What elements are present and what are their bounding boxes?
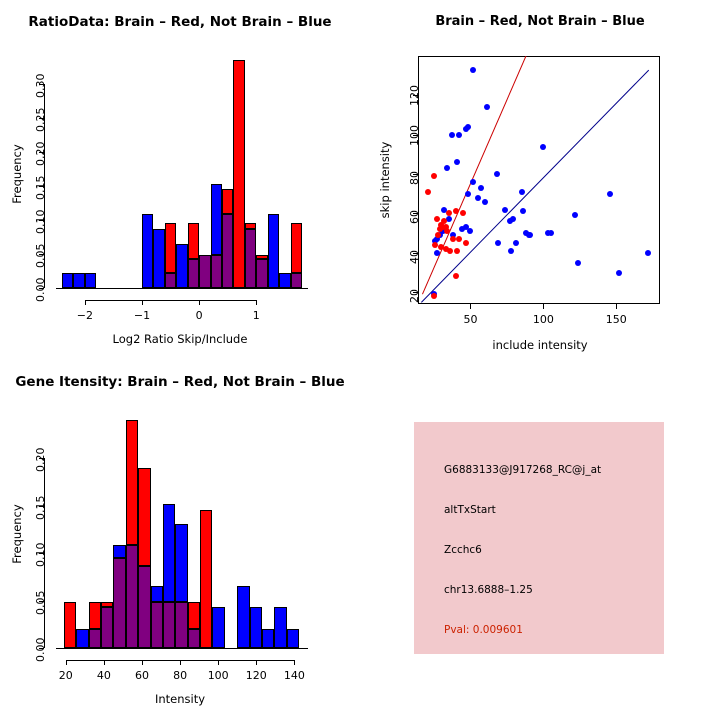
y-axis-tick-label: 0.20	[34, 448, 47, 473]
histogram-bar-overlap	[89, 629, 101, 648]
histogram-bar-overlap	[222, 214, 233, 288]
x-axis-tick	[470, 304, 471, 309]
x-axis-tick	[142, 300, 143, 305]
scatter-point-not-brain	[470, 179, 476, 185]
x-axis-line	[85, 300, 256, 301]
histogram-bar-overlap	[151, 602, 163, 648]
scatter-point-brain	[456, 236, 462, 242]
y-axis-title: skip intensity	[378, 56, 392, 304]
x-axis-tick-label: 100	[527, 313, 559, 326]
scatter-point-not-brain	[507, 218, 513, 224]
x-axis-tick	[294, 660, 295, 665]
scatter-point-brain	[453, 273, 459, 279]
scatter-point-not-brain	[449, 132, 455, 138]
scatter-point-not-brain	[572, 212, 578, 218]
y-axis-tick-label: 0.05	[34, 243, 47, 268]
scatter-point-not-brain	[540, 144, 546, 150]
x-axis-tick	[256, 300, 257, 305]
histogram-bar	[153, 229, 164, 288]
scatter-point-not-brain	[465, 191, 471, 197]
scatter-title: Brain – Red, Not Brain – Blue	[360, 14, 720, 29]
histogram-bar	[188, 223, 199, 258]
scatter-point-not-brain	[475, 195, 481, 201]
x-axis-tick	[218, 660, 219, 665]
x-axis-tick	[104, 660, 105, 665]
histogram-bar	[64, 602, 76, 648]
y-axis-tick-label: 40	[408, 250, 421, 264]
gene-symbol-label: Zcchc6	[444, 544, 482, 556]
histogram-bar-overlap	[188, 629, 200, 648]
x-axis-tick	[142, 660, 143, 665]
histogram-bar	[188, 602, 200, 629]
scatter-point-not-brain	[482, 199, 488, 205]
x-axis-title: Intensity	[0, 692, 360, 706]
histogram-bar-overlap	[138, 566, 150, 648]
histogram-bar	[287, 629, 299, 648]
scatter-point-not-brain	[456, 132, 462, 138]
x-axis-tick-label: 60	[128, 669, 156, 682]
scatter-point-not-brain	[494, 171, 500, 177]
histogram-baseline	[56, 648, 308, 649]
ratio-histogram-title: RatioData: Brain – Red, Not Brain – Blue	[0, 14, 360, 30]
histogram-bar-overlap	[163, 602, 175, 648]
histogram-bar	[291, 223, 302, 273]
y-axis-tick-label: 0.00	[34, 278, 47, 303]
histogram-bar-overlap	[126, 545, 138, 648]
x-axis-tick-label: 100	[204, 669, 232, 682]
y-axis-tick-label: 0.25	[34, 107, 47, 132]
scatter-point-brain	[460, 210, 466, 216]
y-axis-tick-label: 20	[408, 289, 421, 303]
histogram-bar	[237, 586, 249, 648]
x-axis-tick-label: −2	[71, 309, 99, 322]
histogram-bar	[62, 273, 73, 288]
scatter-point-not-brain	[454, 159, 460, 165]
histogram-bar-overlap	[101, 607, 113, 648]
scatter-point-not-brain	[519, 189, 525, 195]
figure-canvas: RatioData: Brain – Red, Not Brain – Blue…	[0, 0, 720, 720]
panel-intensity-histogram: Gene Itensity: Brain – Red, Not Brain – …	[0, 360, 360, 720]
gene-info-box: G6883133@J917268_RC@j_at altTxStart Zcch…	[414, 422, 664, 654]
x-axis-title: Log2 Ratio Skip/Include	[0, 332, 360, 346]
y-axis-title: Frequency	[10, 60, 24, 288]
histogram-bar	[233, 60, 244, 288]
histogram-bar	[142, 214, 153, 288]
x-axis-tick	[199, 300, 200, 305]
histogram-bar-overlap	[113, 558, 125, 648]
histogram-bar	[211, 184, 222, 255]
scatter-point-not-brain	[495, 240, 501, 246]
histogram-bar	[73, 273, 84, 288]
x-axis-tick-label: 0	[185, 309, 213, 322]
y-axis-tick-label: 0.05	[34, 590, 47, 615]
scatter-point-not-brain	[467, 228, 473, 234]
histogram-bar	[268, 214, 279, 288]
scatter-point-not-brain	[575, 260, 581, 266]
x-axis-tick-label: 1	[242, 309, 270, 322]
x-axis-tick	[85, 300, 86, 305]
histogram-bar	[262, 629, 274, 648]
x-axis-tick-label: 150	[600, 313, 632, 326]
histogram-bar	[113, 545, 125, 557]
histogram-bar	[138, 468, 150, 567]
scatter-point-not-brain	[434, 250, 440, 256]
intensity-histogram-title: Gene Itensity: Brain – Red, Not Brain – …	[0, 374, 360, 390]
scatter-point-brain	[447, 248, 453, 254]
fit-line-not-brain-fit	[421, 70, 649, 303]
histogram-bar-overlap	[291, 273, 302, 288]
x-axis-tick	[180, 660, 181, 665]
scatter-point-not-brain	[513, 240, 519, 246]
scatter-point-not-brain	[616, 270, 622, 276]
scatter-point-not-brain	[470, 67, 476, 73]
histogram-bar	[279, 273, 290, 288]
locus-label: chr13.6888–1.25	[444, 584, 533, 596]
histogram-bar-overlap	[211, 255, 222, 288]
y-axis-tick-label: 100	[408, 125, 421, 146]
y-axis-tick-label: 0.15	[34, 175, 47, 200]
histogram-bar-overlap	[165, 273, 176, 288]
scatter-point-not-brain	[478, 185, 484, 191]
scatter-clip	[418, 56, 660, 304]
x-axis-tick	[616, 304, 617, 309]
histogram-bar	[250, 607, 262, 648]
histogram-bar-overlap	[199, 255, 210, 288]
scatter-point-not-brain	[484, 104, 490, 110]
histogram-bar	[85, 273, 96, 288]
histogram-bar	[175, 524, 187, 603]
fit-line-brain-fit	[422, 56, 526, 295]
y-axis-tick-label: 0.30	[34, 73, 47, 98]
histogram-bar-overlap	[256, 259, 267, 288]
y-axis-tick-label: 0.15	[34, 495, 47, 520]
x-axis-tick	[66, 660, 67, 665]
scatter-point-not-brain	[548, 230, 554, 236]
scatter-point-not-brain	[444, 165, 450, 171]
scatter-point-brain	[431, 293, 437, 299]
x-axis-tick-label: 80	[166, 669, 194, 682]
scatter-point-not-brain	[508, 248, 514, 254]
pval-label: Pval: 0.009601	[444, 624, 523, 636]
panel-scatter: Brain – Red, Not Brain – Blue 2040608010…	[360, 0, 720, 360]
histogram-bar-overlap	[188, 259, 199, 288]
probe-id-label: G6883133@J917268_RC@j_at	[444, 464, 601, 476]
scatter-point-not-brain	[527, 232, 533, 238]
histogram-bar	[163, 504, 175, 603]
histogram-bar	[222, 189, 233, 214]
x-axis-title: include intensity	[360, 338, 720, 352]
y-axis-tick-label: 80	[408, 171, 421, 185]
y-axis-tick-label: 0.10	[34, 543, 47, 568]
scatter-point-not-brain	[520, 208, 526, 214]
y-axis-tick-label: 0.00	[34, 638, 47, 663]
histogram-bar	[176, 244, 187, 288]
x-axis-tick-label: 20	[52, 669, 80, 682]
scatter-point-not-brain	[645, 250, 651, 256]
x-axis-tick-label: 40	[90, 669, 118, 682]
histogram-bar	[76, 629, 88, 648]
x-axis-tick-label: −1	[128, 309, 156, 322]
x-axis-tick-label: 140	[280, 669, 308, 682]
y-axis-tick-label: 120	[408, 85, 421, 106]
histogram-bar	[151, 586, 163, 602]
y-axis-title: Frequency	[10, 420, 24, 648]
histogram-bar	[200, 510, 212, 648]
histogram-bar	[126, 420, 138, 545]
y-axis-tick-label: 0.10	[34, 209, 47, 234]
scatter-point-brain	[431, 173, 437, 179]
histogram-bar-overlap	[245, 229, 256, 288]
scatter-point-not-brain	[459, 226, 465, 232]
x-axis-tick	[543, 304, 544, 309]
scatter-point-brain	[463, 240, 469, 246]
x-axis-tick-label: 50	[454, 313, 486, 326]
x-axis-tick	[256, 660, 257, 665]
histogram-bar	[89, 602, 101, 629]
scatter-point-not-brain	[465, 124, 471, 130]
panel-ratio-histogram: RatioData: Brain – Red, Not Brain – Blue…	[0, 0, 360, 360]
y-axis-tick-label: 0.20	[34, 141, 47, 166]
x-axis-tick-label: 120	[242, 669, 270, 682]
y-axis-tick-label: 60	[408, 210, 421, 224]
histogram-bar	[212, 607, 224, 648]
histogram-baseline	[56, 288, 308, 289]
panel-gene-info: G6883133@J917268_RC@j_at altTxStart Zcch…	[360, 360, 720, 720]
histogram-bar	[274, 607, 286, 648]
scatter-point-not-brain	[607, 191, 613, 197]
scatter-point-brain	[425, 189, 431, 195]
event-type-label: altTxStart	[444, 504, 496, 516]
scatter-point-brain	[454, 248, 460, 254]
histogram-bar	[165, 223, 176, 273]
histogram-bar-overlap	[175, 602, 187, 648]
